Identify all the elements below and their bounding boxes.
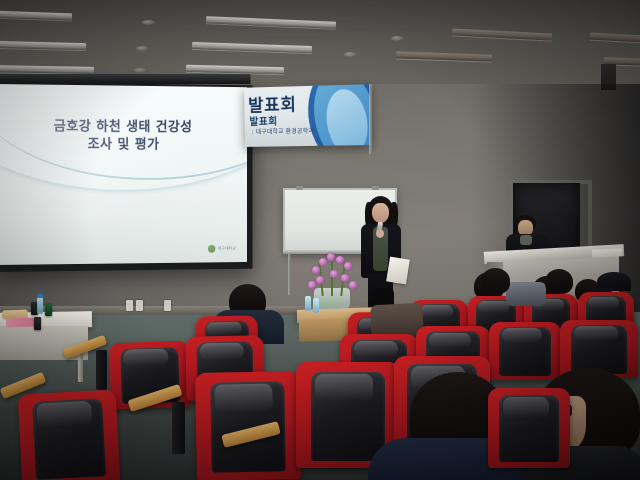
banner-pole: [369, 84, 372, 154]
orchid-flower: [319, 258, 327, 266]
whiteboard-clip-icon: [372, 186, 379, 190]
water-bottle: [313, 298, 319, 313]
orchid-flower: [330, 270, 338, 278]
wall-outlet-icon: [136, 300, 143, 311]
lectern-papers: [592, 248, 622, 258]
face: [372, 203, 389, 223]
wall-outlet-icon: [126, 300, 133, 311]
drink-can: [45, 303, 52, 316]
ceiling-sprinkler-icon: [142, 20, 155, 25]
wall-outlet-icon: [164, 300, 171, 311]
banner-affiliation: : 대구대학교 환경공학과: [252, 126, 314, 136]
drink-can: [34, 317, 41, 330]
auditorium-photo: 금호강 하천 생태 건강성 조사 및 평가 대구대학교 발표회 발표회 : 대구…: [0, 0, 640, 480]
hand: [376, 229, 384, 238]
bottle-cap: [37, 294, 43, 298]
auditorium-seat: [195, 371, 301, 480]
water-bottle: [37, 297, 43, 314]
ceiling-sprinkler-icon: [136, 46, 149, 51]
armrest-post: [96, 350, 107, 390]
orchid-flower: [336, 256, 344, 264]
collar: [520, 235, 532, 245]
ceiling-sprinkler-icon: [344, 52, 357, 57]
slide-title: 금호강 하천 생태 건강성 조사 및 평가: [0, 117, 247, 154]
orchid-flower: [308, 281, 316, 289]
table-leg: [78, 352, 83, 382]
orchid-flower: [341, 274, 349, 282]
orchid-flower: [344, 262, 352, 270]
water-bottle: [305, 296, 311, 311]
auditorium-seat: [18, 389, 121, 480]
jacket-on-seat: [506, 282, 546, 306]
audience-head: [481, 268, 510, 294]
orchid-flower: [349, 281, 357, 289]
ceiling-sprinkler-icon: [391, 36, 404, 41]
cap-brim: [588, 288, 614, 292]
projection-screen: 금호강 하천 생태 건강성 조사 및 평가 대구대학교: [0, 82, 253, 272]
slide-logo-text: 대구대학교: [218, 246, 236, 252]
ceiling-sprinkler-icon: [134, 68, 147, 73]
university-emblem-icon: [208, 245, 215, 253]
orchid-flower: [312, 266, 320, 274]
pink-napkins: [6, 317, 36, 327]
projected-slide: 금호강 하천 생태 건강성 조사 및 평가 대구대학교: [0, 84, 247, 265]
armrest-post: [172, 402, 185, 454]
slide-title-line2: 조사 및 평가: [0, 135, 247, 154]
whiteboard-leg: [288, 253, 291, 295]
slide-logo: 대구대학교: [208, 245, 236, 253]
presenter: [357, 196, 405, 314]
event-banner: 발표회 발표회 : 대구대학교 환경공학과: [244, 84, 372, 147]
slide-title-line1: 금호강 하천 생태 건강성: [0, 117, 247, 136]
auditorium-seat: [488, 388, 570, 468]
orchid-flower: [327, 253, 335, 261]
wall-speaker-icon: [601, 64, 616, 90]
orchid-flower: [316, 276, 324, 284]
presenter-handout: [386, 257, 410, 285]
whiteboard-clip-icon: [296, 186, 303, 190]
audience-head: [545, 269, 573, 294]
